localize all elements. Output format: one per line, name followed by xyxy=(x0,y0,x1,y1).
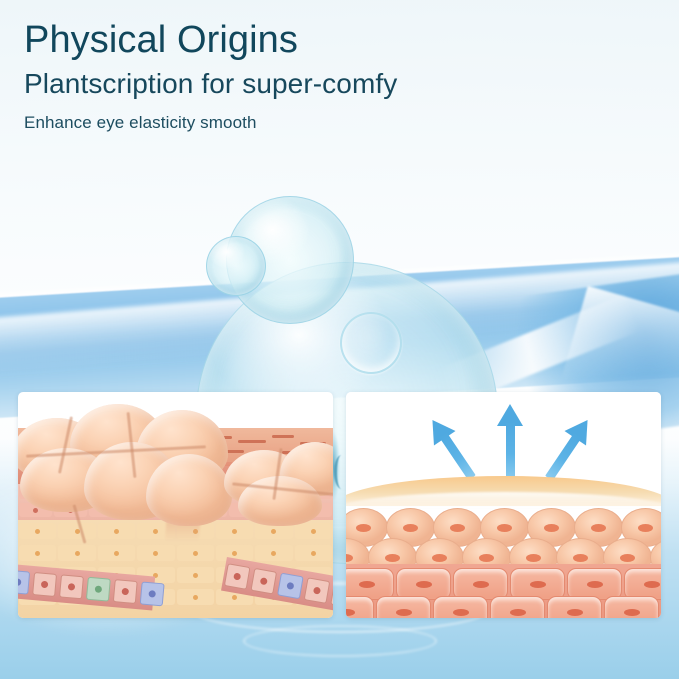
fat-brick xyxy=(177,567,214,583)
fat-brick-row xyxy=(18,544,333,562)
fat-brick xyxy=(98,545,135,561)
basal-cell xyxy=(277,572,304,599)
deep-cell xyxy=(547,596,602,618)
inner-ring-bubble xyxy=(340,312,402,374)
wrinkled-skin-panel xyxy=(18,392,333,618)
lift-arrow-center-icon xyxy=(496,404,524,480)
small-water-bubble xyxy=(206,236,266,296)
fat-brick xyxy=(19,545,56,561)
basal-cell xyxy=(113,579,138,604)
basal-cell xyxy=(330,581,333,608)
fat-brick xyxy=(295,545,332,561)
basal-cell xyxy=(140,581,165,606)
basal-cell xyxy=(86,576,111,601)
fat-brick xyxy=(255,545,292,561)
fat-brick xyxy=(295,523,332,539)
fat-brick xyxy=(177,545,214,561)
fat-brick xyxy=(58,545,95,561)
fat-brick xyxy=(216,523,253,539)
deep-cell xyxy=(376,596,431,618)
basal-cell xyxy=(224,563,251,590)
deep-cell xyxy=(604,596,659,618)
heading-block: Physical Origins Plantscription for supe… xyxy=(24,18,644,134)
page-tagline: Enhance eye elasticity smooth xyxy=(24,112,644,133)
basal-cell xyxy=(59,574,84,599)
deep-cell xyxy=(490,596,545,618)
water-ripple-inner xyxy=(243,625,437,657)
page-title: Physical Origins xyxy=(24,18,644,63)
poster-canvas: Physical Origins Plantscription for supe… xyxy=(0,0,679,679)
fat-brick xyxy=(177,589,214,605)
basal-cell xyxy=(304,577,331,604)
basal-cell xyxy=(32,572,57,597)
page-subtitle: Plantscription for super-comfy xyxy=(24,67,644,101)
fat-brick xyxy=(58,523,95,539)
deep-cell xyxy=(433,596,488,618)
fat-brick xyxy=(137,545,174,561)
deep-cell xyxy=(346,596,374,618)
fat-brick xyxy=(98,523,135,539)
basal-cell xyxy=(251,567,278,594)
fat-brick xyxy=(19,523,56,539)
deep-cell-row xyxy=(346,596,648,618)
smooth-skin-panel xyxy=(346,392,661,618)
basal-cell xyxy=(18,569,30,594)
